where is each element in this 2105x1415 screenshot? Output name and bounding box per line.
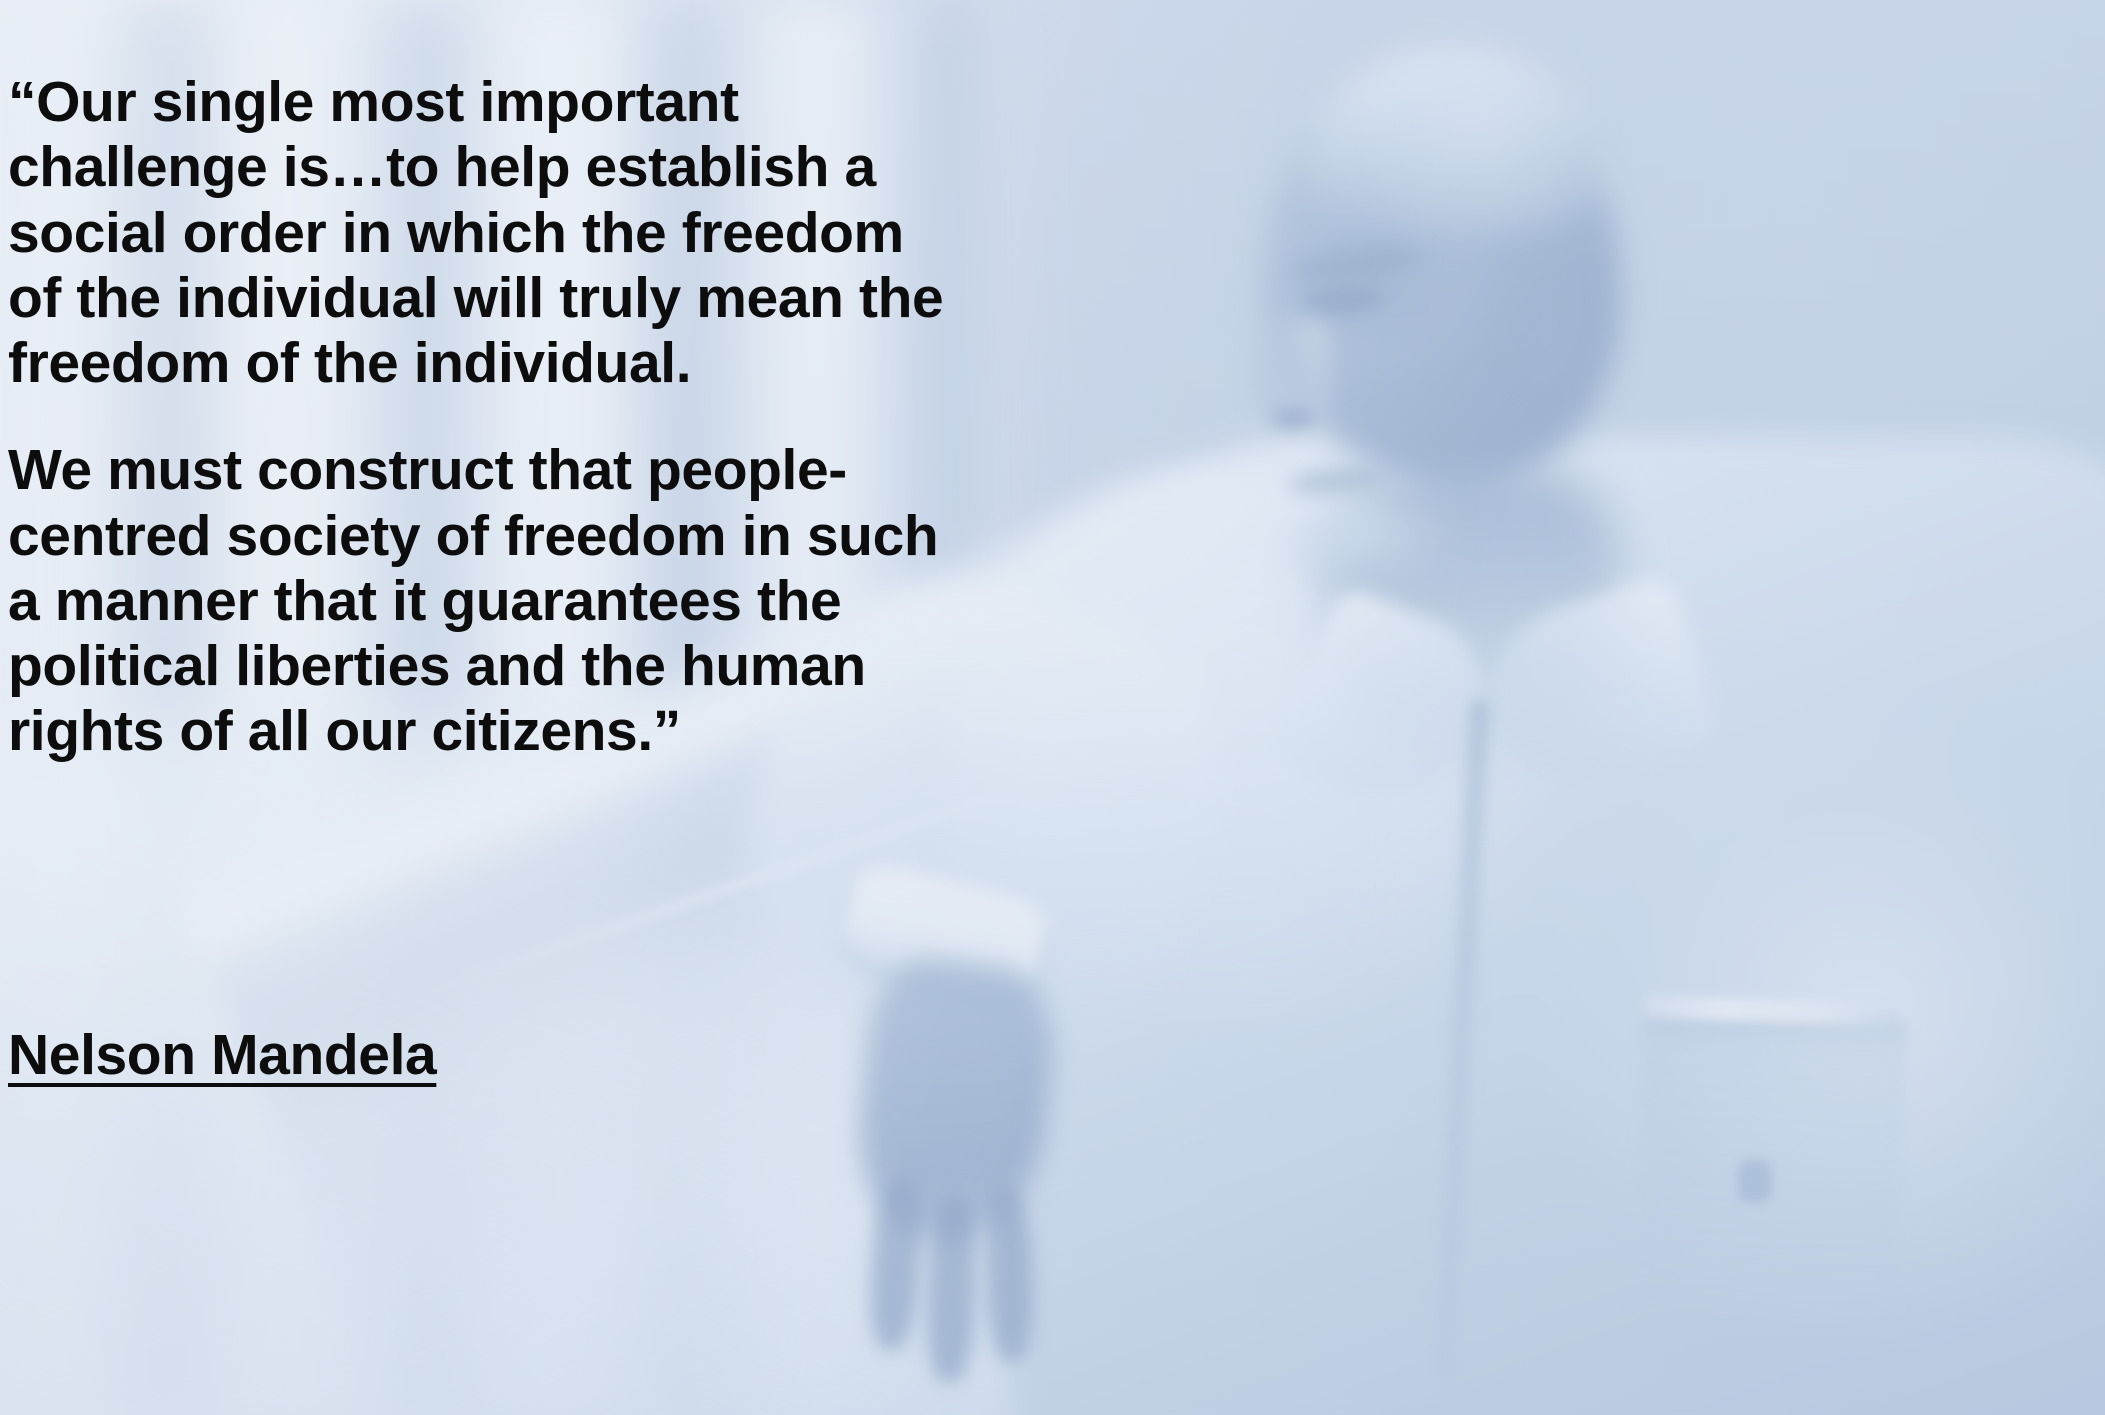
- attribution-name: Nelson Mandela: [8, 1024, 436, 1087]
- quote-slide: “Our single most important challenge is……: [0, 0, 2105, 1415]
- text-layer: “Our single most important challenge is……: [0, 0, 2105, 1415]
- quote-paragraph-1: “Our single most important challenge is……: [8, 70, 948, 396]
- quote-block: “Our single most important challenge is……: [8, 70, 948, 795]
- quote-paragraph-2: We must construct that people-centred so…: [8, 438, 948, 764]
